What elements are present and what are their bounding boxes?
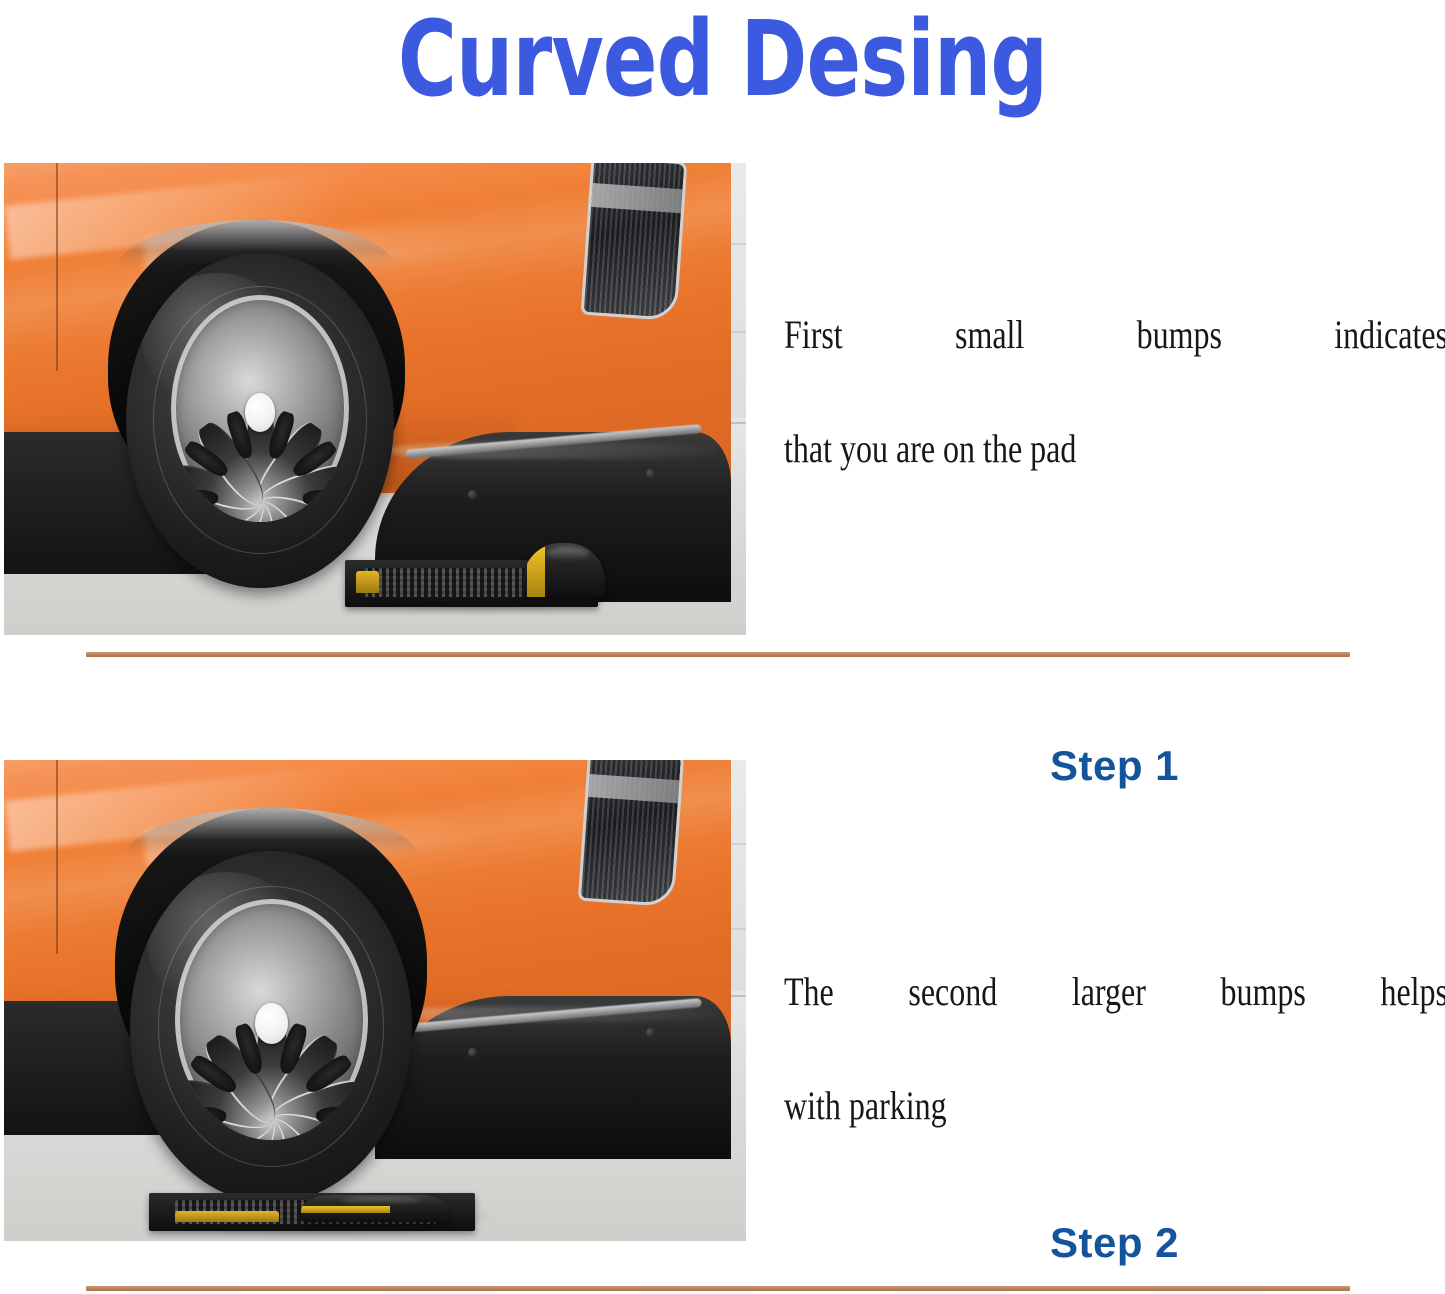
section-divider-1 bbox=[86, 652, 1350, 657]
alloy-wheel-rim bbox=[175, 899, 368, 1140]
photo-scene bbox=[4, 163, 746, 635]
caption-line-2: with parking bbox=[784, 1077, 1445, 1134]
car-rear-bumper bbox=[375, 996, 731, 1160]
wheel-center-cap bbox=[245, 393, 275, 432]
parking-pad-small-bump bbox=[175, 1211, 279, 1222]
step-label-2: Step 2 bbox=[1050, 1219, 1179, 1267]
photo-scene bbox=[4, 760, 746, 1241]
page-title: Curved Desing bbox=[101, 0, 1344, 124]
product-photo-step-2 bbox=[4, 760, 746, 1241]
section-divider-2 bbox=[86, 1286, 1350, 1291]
product-photo-step-1 bbox=[4, 163, 746, 635]
parking-pad-large-bump bbox=[301, 1195, 449, 1221]
tail-light bbox=[581, 163, 688, 322]
step-section-2: The second larger bumps helps with parki… bbox=[0, 760, 1445, 1294]
alloy-wheel-rim bbox=[171, 295, 349, 522]
caption-line-1: First small bumps indicates bbox=[784, 306, 1445, 420]
parking-pad-small-bump bbox=[356, 571, 378, 592]
tail-light bbox=[578, 760, 685, 907]
caption-line-2: that you are on the pad bbox=[784, 420, 1445, 477]
caption-line-1: The second larger bumps helps bbox=[784, 963, 1445, 1077]
step-caption-1: First small bumps indicates that you are… bbox=[784, 306, 1445, 477]
step-caption-2: The second larger bumps helps with parki… bbox=[784, 963, 1445, 1134]
step-section-1: First small bumps indicates that you are… bbox=[0, 163, 1445, 663]
wheel-center-cap bbox=[255, 1003, 288, 1044]
